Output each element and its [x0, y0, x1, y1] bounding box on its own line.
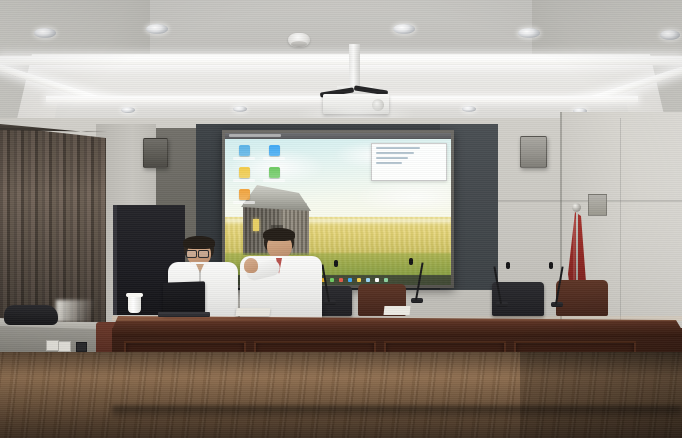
microphone-2-base: [324, 300, 336, 305]
microphone-3-base: [411, 298, 423, 303]
microphone-4-capsule-icon: [506, 262, 510, 269]
microphone-2-capsule-icon: [334, 260, 338, 267]
taskbar-icon-1[interactable]: [330, 278, 334, 282]
microphone-4-base: [496, 302, 508, 307]
dark-bag: [4, 305, 58, 325]
desktop-icon-label: [233, 179, 255, 182]
documents-icon: [239, 167, 250, 178]
table-top-rail: [112, 328, 682, 337]
desktop-icon-documents[interactable]: [233, 167, 255, 183]
window-daylight-glow: [56, 300, 102, 322]
microphone-5-capsule-icon: [549, 262, 553, 269]
desktop-icon-label: [233, 201, 255, 204]
desktop-icon-media[interactable]: [263, 167, 285, 183]
downlight-1-icon: [34, 28, 56, 38]
laptop-screen[interactable]: [163, 281, 205, 314]
computer-icon: [239, 145, 250, 156]
downlight-2-icon: [146, 24, 168, 34]
glasses-lens-right: [198, 250, 209, 258]
desktop-icon-browser[interactable]: [263, 145, 285, 161]
desktop-icon-label: [263, 157, 285, 160]
person-right-hand: [244, 258, 258, 273]
wall-speaker-right: [520, 136, 547, 168]
media-icon: [269, 167, 280, 178]
laptop-base[interactable]: [158, 312, 210, 317]
smoke-detector-icon: [288, 33, 310, 47]
downlight-8-icon: [462, 106, 476, 112]
dialog-text-line: [376, 157, 408, 159]
flag-finial-icon: [572, 203, 581, 212]
chair-4[interactable]: [556, 280, 608, 316]
meeting-room-photo: [0, 0, 682, 438]
floor-shadow-right: [520, 352, 682, 438]
dialog-text-line: [376, 162, 402, 164]
curtain-shading: [0, 126, 106, 322]
floor-outlet-b[interactable]: [58, 341, 71, 352]
taskbar-icon-5[interactable]: [366, 278, 370, 282]
cove-light-strip-top: [0, 56, 682, 65]
wall-outlet-plate[interactable]: [588, 194, 607, 216]
documents-on-table-right: [384, 306, 411, 315]
taskbar-icon-7[interactable]: [384, 278, 388, 282]
microphone-3-capsule-icon: [409, 258, 413, 265]
wall-speaker-left: [143, 138, 168, 168]
dialog-text-line: [376, 147, 420, 149]
documents-on-table: [235, 308, 270, 316]
wall-seam-secondary: [620, 118, 621, 324]
microphone-5-base: [551, 302, 563, 307]
tools-icon: [239, 189, 250, 200]
downlight-3-icon: [393, 24, 415, 34]
taskbar-icon-2[interactable]: [339, 278, 343, 282]
glasses-icon: [186, 250, 212, 256]
person-left-hair: [183, 236, 215, 249]
taskbar-icon-3[interactable]: [348, 278, 352, 282]
dialog-text-line: [376, 152, 414, 154]
titlebar-text-block: [229, 134, 281, 137]
desktop-icon-label: [263, 179, 285, 182]
downlight-7-icon: [233, 106, 247, 112]
paper-cup-lid: [126, 293, 143, 297]
paper-cup: [128, 295, 141, 313]
left-cabinet-edge: [113, 205, 117, 315]
taskbar-icon-4[interactable]: [357, 278, 361, 282]
table-cast-shadow: [112, 406, 682, 420]
taskbar-icon-6[interactable]: [375, 278, 379, 282]
browser-icon: [269, 145, 280, 156]
downlight-4-icon: [518, 28, 540, 38]
desktop-icons[interactable]: [233, 145, 313, 205]
person-right-hair: [263, 228, 295, 241]
floor-outlet-c[interactable]: [76, 342, 87, 352]
desktop-icon-computer[interactable]: [233, 145, 255, 161]
desktop-titlebar: [225, 133, 451, 139]
downlight-5-icon: [660, 30, 680, 40]
desktop-icon-label: [233, 157, 255, 160]
desktop-icon-tools[interactable]: [233, 189, 255, 205]
desktop-dialog-window[interactable]: [371, 143, 447, 181]
downlight-6-icon: [121, 107, 135, 113]
glasses-lens-left: [186, 250, 197, 258]
